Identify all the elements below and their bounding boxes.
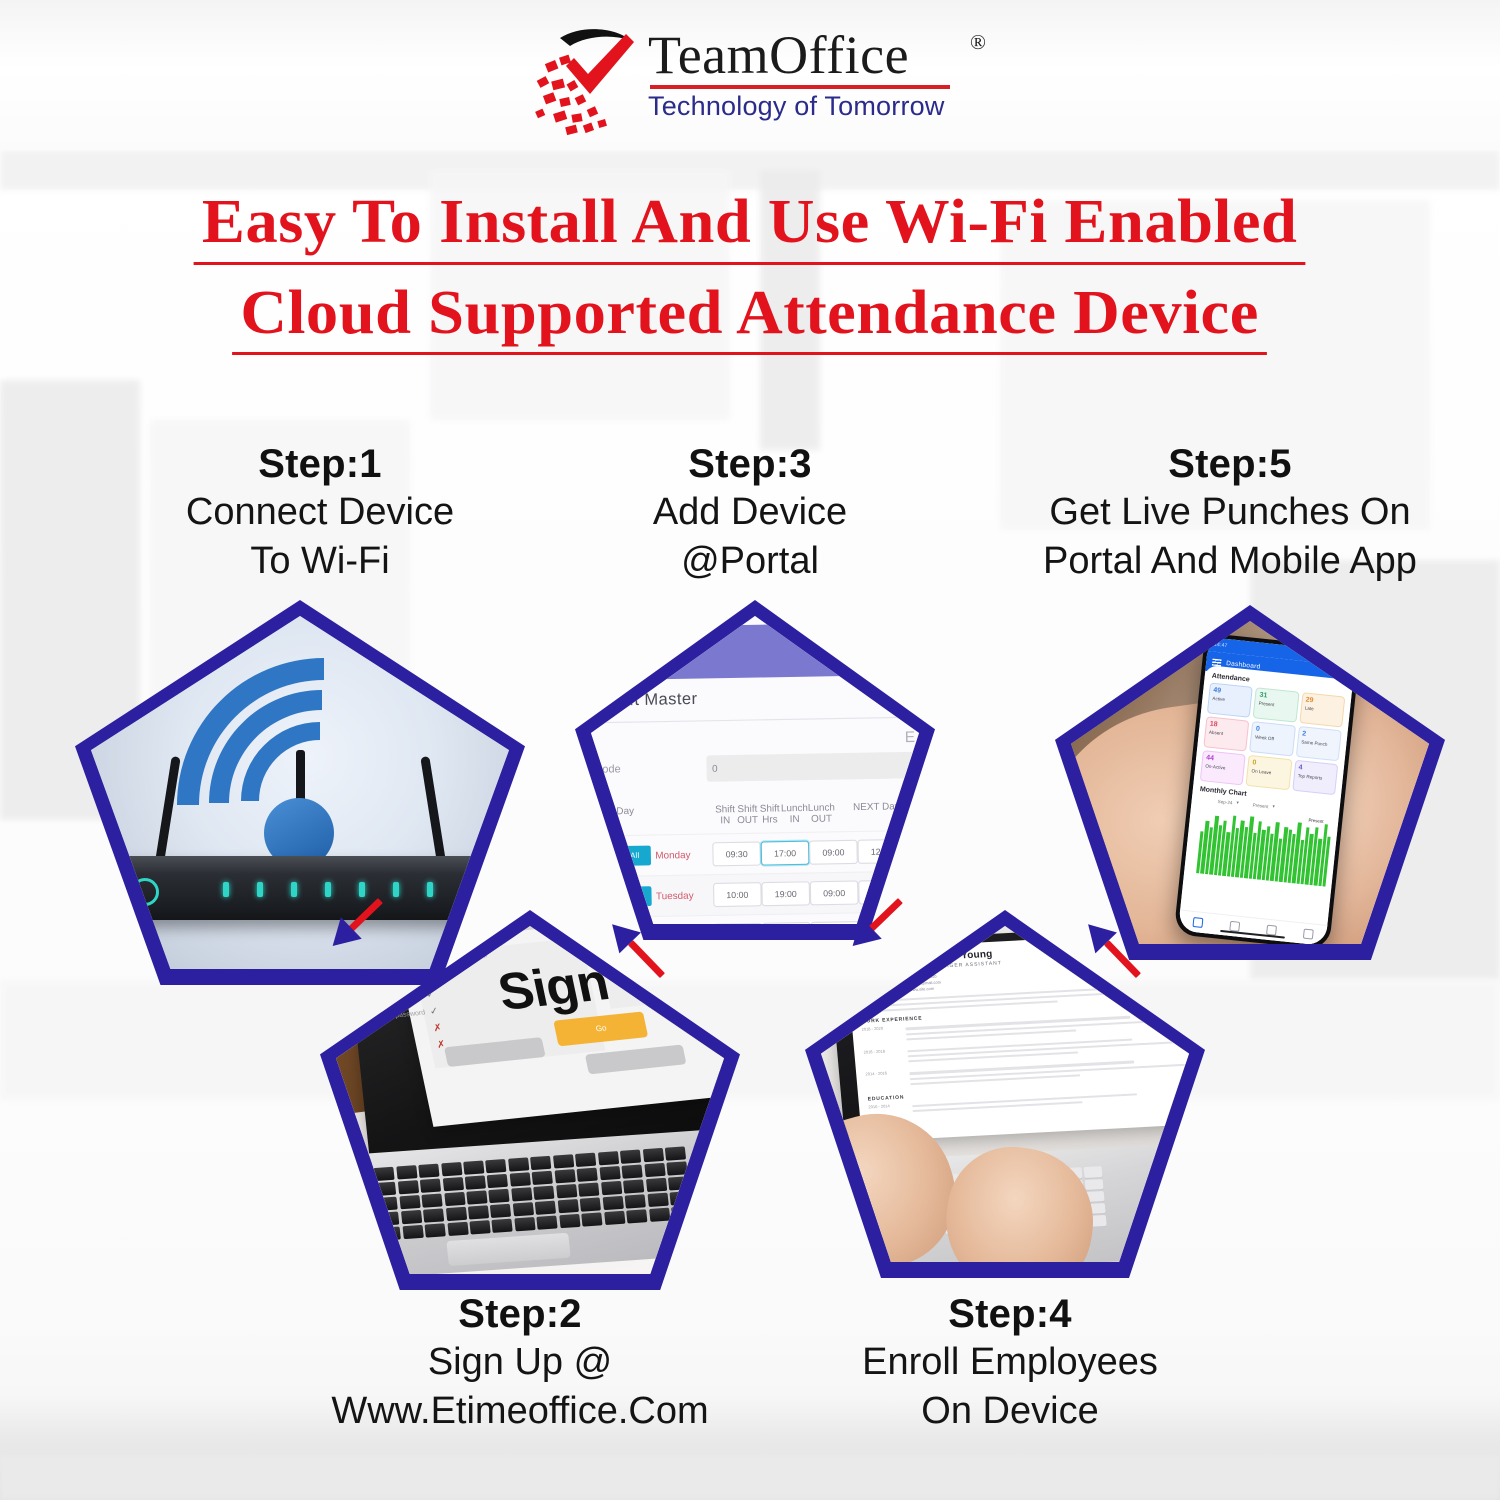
attendance-card-grid: 49Active31Present29Late18Absent0Week Off… (1200, 683, 1346, 796)
time-input[interactable]: 10:00 (714, 923, 763, 924)
keyboard-key[interactable] (604, 1211, 625, 1225)
attendance-card[interactable]: 29Late (1299, 693, 1345, 728)
cell-lunch-out: 12:40 (907, 919, 919, 924)
portal-topbar (591, 622, 919, 681)
copy-to-all-button[interactable]: Copy To All (591, 886, 652, 907)
cell-lunch-out: 12:40 (907, 879, 919, 904)
keyboard-key[interactable] (466, 1190, 487, 1204)
keyboard-key[interactable] (623, 1179, 644, 1193)
keyboard-key[interactable] (842, 1229, 861, 1240)
caption-step-5: Step:5 Get Live Punches On Portal And Mo… (965, 440, 1495, 585)
row-day-label: Monday (651, 849, 713, 861)
infographic-canvas: TeamOffice ® Technology of Tomorrow Easy… (0, 0, 1500, 1500)
laptop-keyboard[interactable] (373, 1146, 692, 1240)
attendance-card[interactable]: 44On-Active (1200, 750, 1246, 785)
chevron-down-icon: ▾ (1236, 800, 1239, 806)
caption-step-1: Step:1 Connect Device To Wi-Fi (60, 440, 580, 585)
attendance-card[interactable]: 2Same Punch (1296, 726, 1342, 761)
keyboard-key[interactable] (469, 1220, 490, 1234)
col-week-day: Week Day (591, 804, 714, 828)
keyboard-key[interactable] (444, 1192, 465, 1206)
keyboard-key[interactable] (668, 1176, 689, 1190)
keyboard-key[interactable] (648, 1208, 669, 1222)
keyboard-key[interactable] (666, 1161, 687, 1175)
keyboard-key[interactable] (375, 1181, 396, 1195)
keyboard-key[interactable] (424, 1223, 445, 1237)
time-input[interactable]: 09:00 (810, 880, 859, 905)
keyboard-key[interactable] (841, 1216, 860, 1227)
time-input[interactable]: 19:00 (761, 881, 810, 906)
keyboard-key[interactable] (464, 1175, 485, 1189)
keyboard-key[interactable] (442, 1177, 463, 1191)
caption-step-2: Step:2 Sign Up @ Www.Etimeoffice.Com (255, 1290, 785, 1435)
portal-search-input[interactable]: 0 (706, 751, 919, 782)
keyboard-key[interactable] (488, 1189, 509, 1203)
keyboard-key[interactable] (642, 1148, 663, 1162)
keyboard-key[interactable] (559, 1214, 580, 1228)
keyboard-key[interactable] (838, 1180, 857, 1191)
time-input[interactable]: 09:00 (810, 921, 859, 924)
registered-mark-icon: ® (970, 30, 986, 55)
keyboard-key[interactable] (626, 1209, 647, 1223)
step-5-description: Get Live Punches On Portal And Mobile Ap… (965, 488, 1495, 585)
keyboard-key[interactable] (599, 1166, 620, 1180)
keyboard-key[interactable] (532, 1171, 553, 1185)
keyboard-key[interactable] (485, 1159, 506, 1173)
col-shift-in: Shift IN (714, 803, 737, 825)
row-day-label: Tuesday (651, 890, 713, 902)
step-1-card[interactable] (75, 600, 525, 985)
keyboard-key[interactable] (621, 1164, 642, 1178)
cell-shift-hrs: 09:00 (810, 921, 859, 924)
keyboard-key[interactable] (665, 1146, 686, 1160)
step-4-card[interactable]: Sebastian J. Young PROJECT MANAGER ASSIS… (805, 910, 1205, 1278)
keyboard-key[interactable] (578, 1182, 599, 1196)
phone-screen: 14:47 ●▲■ Dashboard Attendance 49Active3… (1178, 637, 1356, 944)
cell-lunch-in: 12:00 (857, 839, 906, 864)
shift-master-portal-screenshot: Shift Master E Code 0 Week Day Shift IN … (591, 616, 919, 924)
time-input[interactable]: 16:00 (762, 922, 811, 924)
col-shift-hrs: Shift Hrs (758, 803, 781, 825)
keyboard-key[interactable] (511, 1187, 532, 1201)
brand-logo: TeamOffice ® Technology of Tomorrow (530, 18, 980, 138)
time-input[interactable]: 09:30 (712, 841, 761, 866)
status-time: 14:47 (1214, 642, 1228, 649)
keyboard-key[interactable] (380, 1226, 401, 1240)
keyboard-key[interactable] (376, 1196, 397, 1210)
col-shift-out: Shift OUT (736, 803, 759, 825)
resume-date-3: 2014 - 2016 (865, 1070, 903, 1090)
keyboard-key[interactable] (577, 1167, 598, 1181)
brand-tagline: Technology of Tomorrow (648, 91, 978, 122)
keyboard-key[interactable] (580, 1197, 601, 1211)
keyboard-key[interactable] (402, 1225, 423, 1239)
table-row: Copy To AllMonday09:3017:0009:0012:0012:… (591, 830, 919, 877)
attendance-card[interactable]: 49Active (1207, 683, 1253, 718)
keyboard-key[interactable] (440, 1162, 461, 1176)
step-5-number: Step:5 (965, 440, 1495, 488)
brand-wordmark: TeamOffice ® Technology of Tomorrow (648, 28, 978, 122)
keyboard-key[interactable] (373, 1167, 394, 1181)
keyboard-key[interactable] (378, 1211, 399, 1225)
step-4-description: Enroll Employees On Device (790, 1338, 1230, 1435)
time-input[interactable]: 10:00 (713, 882, 762, 907)
step-3-description: Add Device @Portal (505, 488, 995, 585)
keyboard-key[interactable] (463, 1160, 484, 1174)
keyboard-key[interactable] (535, 1200, 556, 1214)
keyboard-key[interactable] (397, 1180, 418, 1194)
keyboard-key[interactable] (514, 1217, 535, 1231)
time-input[interactable]: 12:40 (907, 879, 919, 904)
keyboard-key[interactable] (581, 1212, 602, 1226)
portal-page-title: Shift Master (604, 690, 698, 710)
shift-table: Week Day Shift IN Shift OUT Shift Hrs Lu… (591, 800, 919, 924)
caption-step-3: Step:3 Add Device @Portal (505, 440, 995, 585)
router-body (111, 856, 489, 920)
step-3-image: Shift Master E Code 0 Week Day Shift IN … (591, 616, 919, 924)
cell-shift-out: 16:00 (762, 922, 811, 924)
cell-lunch-out: 12:40 (906, 838, 919, 863)
keyboard-key[interactable] (536, 1215, 557, 1229)
nav-profile-icon[interactable] (1303, 929, 1314, 940)
brand-rule (650, 85, 950, 89)
keyboard-key[interactable] (468, 1205, 489, 1219)
step-1-number: Step:1 (60, 440, 580, 488)
keyboard-key[interactable] (447, 1222, 468, 1236)
step-3-number: Step:3 (505, 440, 995, 488)
caption-step-4: Step:4 Enroll Employees On Device (790, 1290, 1230, 1435)
cell-shift-out: 17:00 (761, 841, 810, 866)
chevron-down-icon-2: ▾ (1272, 804, 1275, 810)
step-2-description: Sign Up @ Www.Etimeoffice.Com (255, 1338, 785, 1435)
keyboard-key[interactable] (1085, 1179, 1104, 1190)
dashboard-sheet: Attendance 49Active31Present29Late18Abse… (1178, 665, 1353, 944)
keyboard-key[interactable] (399, 1195, 420, 1209)
attendance-card[interactable]: 18Absent (1203, 717, 1249, 752)
col-lunch-out: Lunch OUT (808, 802, 835, 824)
smartphone: 14:47 ●▲■ Dashboard Attendance 49Active3… (1174, 633, 1361, 944)
col-next-day-hrs: NEXT Day Hrs (835, 800, 919, 824)
power-button-icon (131, 878, 159, 906)
keyboard-key[interactable] (645, 1178, 666, 1192)
attendance-card[interactable]: 0Week Off (1250, 721, 1296, 756)
time-input[interactable]: 12:40 (907, 919, 919, 924)
laptop-base (338, 1129, 724, 1274)
keyboard-key[interactable] (647, 1193, 668, 1207)
keyboard-key[interactable] (1083, 1167, 1102, 1178)
chart-metric-select[interactable]: Present (1253, 802, 1269, 809)
title-line-2: Cloud Supported Attendance Device (232, 281, 1267, 356)
nav-home-icon[interactable] (1192, 917, 1203, 928)
keyboard-key[interactable] (840, 1204, 859, 1215)
cell-shift-out: 19:00 (761, 881, 810, 906)
keyboard-key[interactable] (557, 1199, 578, 1213)
chart-range-select[interactable]: Sep-24 (1218, 799, 1233, 806)
keyboard-key[interactable] (644, 1163, 665, 1177)
laptop-trackpad[interactable] (446, 1232, 570, 1265)
step-3-card[interactable]: Shift Master E Code 0 Week Day Shift IN … (575, 600, 935, 940)
keyboard-key[interactable] (396, 1165, 417, 1179)
keyboard-key[interactable] (512, 1202, 533, 1216)
time-input[interactable]: 12:00 (857, 839, 906, 864)
keyboard-key[interactable] (600, 1181, 621, 1195)
portal-export-button[interactable]: E (905, 728, 916, 746)
cell-shift-in: 09:30 (712, 841, 761, 866)
cell-shift-hrs: 09:00 (810, 880, 859, 905)
keyboard-key[interactable] (671, 1206, 692, 1220)
keyboard-key[interactable] (602, 1196, 623, 1210)
keyboard-key[interactable] (597, 1151, 618, 1165)
resume-date-2: 2016 - 2018 (863, 1047, 901, 1067)
keyboard-key[interactable] (839, 1192, 858, 1203)
keyboard-key[interactable] (400, 1210, 421, 1224)
attendance-card[interactable]: 0On Leave (1246, 755, 1292, 790)
keyboard-key[interactable] (624, 1194, 645, 1208)
keyboard-key[interactable] (420, 1178, 441, 1192)
step-2-number: Step:2 (255, 1290, 785, 1338)
portal-search-label: Code (594, 764, 621, 777)
portal-search-value: 0 (706, 751, 919, 782)
keyboard-key[interactable] (620, 1149, 641, 1163)
cell-shift-in: 10:00 (713, 882, 762, 907)
time-input[interactable]: 09:00 (809, 840, 858, 865)
page-title: Easy To Install And Use Wi-Fi Enabled Cl… (0, 190, 1500, 355)
cell-shift-hrs: 09:00 (809, 840, 858, 865)
attendance-card[interactable]: 31Present (1253, 688, 1299, 723)
time-input[interactable]: 17:00 (761, 841, 810, 866)
table-row: Copy To AllTuesday10:0019:0009:0012:0012… (591, 870, 919, 917)
keyboard-key[interactable] (418, 1163, 439, 1177)
brand-name: TeamOffice (648, 25, 909, 85)
attendance-card[interactable]: 4Top Reports (1292, 760, 1338, 795)
keyboard-key[interactable] (533, 1185, 554, 1199)
keyboard-key[interactable] (487, 1174, 508, 1188)
copy-to-all-button[interactable]: Copy To All (591, 846, 651, 867)
keyboard-key[interactable] (575, 1152, 596, 1166)
keyboard-key[interactable] (556, 1184, 577, 1198)
col-lunch-in: Lunch IN (781, 802, 808, 824)
keyboard-key[interactable] (509, 1172, 530, 1186)
keyboard-key[interactable] (445, 1207, 466, 1221)
step-1-description: Connect Device To Wi-Fi (60, 488, 580, 585)
bg-ceiling-band (0, 150, 1500, 190)
keyboard-key[interactable] (490, 1204, 511, 1218)
cell-shift-in: 10:00 (714, 923, 763, 924)
keyboard-key[interactable] (508, 1157, 529, 1171)
title-line-1: Easy To Install And Use Wi-Fi Enabled (194, 190, 1306, 265)
time-input[interactable]: 12:40 (906, 838, 919, 863)
keyboard-key[interactable] (492, 1219, 513, 1233)
keyboard-key[interactable] (421, 1193, 442, 1207)
bg-floor-band (0, 980, 1500, 1100)
keyboard-key[interactable] (530, 1156, 551, 1170)
keyboard-key[interactable] (669, 1191, 690, 1205)
bg-bottom-band (0, 1455, 1500, 1500)
mosaic-checkmark-logo-icon (530, 22, 650, 138)
step-4-number: Step:4 (790, 1290, 1230, 1338)
resume-date-1: 2018 - 2020 (861, 1025, 899, 1045)
monthly-chart: Present (1190, 806, 1333, 887)
keyboard-key[interactable] (863, 1228, 882, 1239)
keyboard-key[interactable] (553, 1154, 574, 1168)
resume-document: Sebastian J. Young PROJECT MANAGER ASSIS… (845, 931, 1189, 1141)
keyboard-key[interactable] (554, 1169, 575, 1183)
keyboard-key[interactable] (423, 1208, 444, 1222)
